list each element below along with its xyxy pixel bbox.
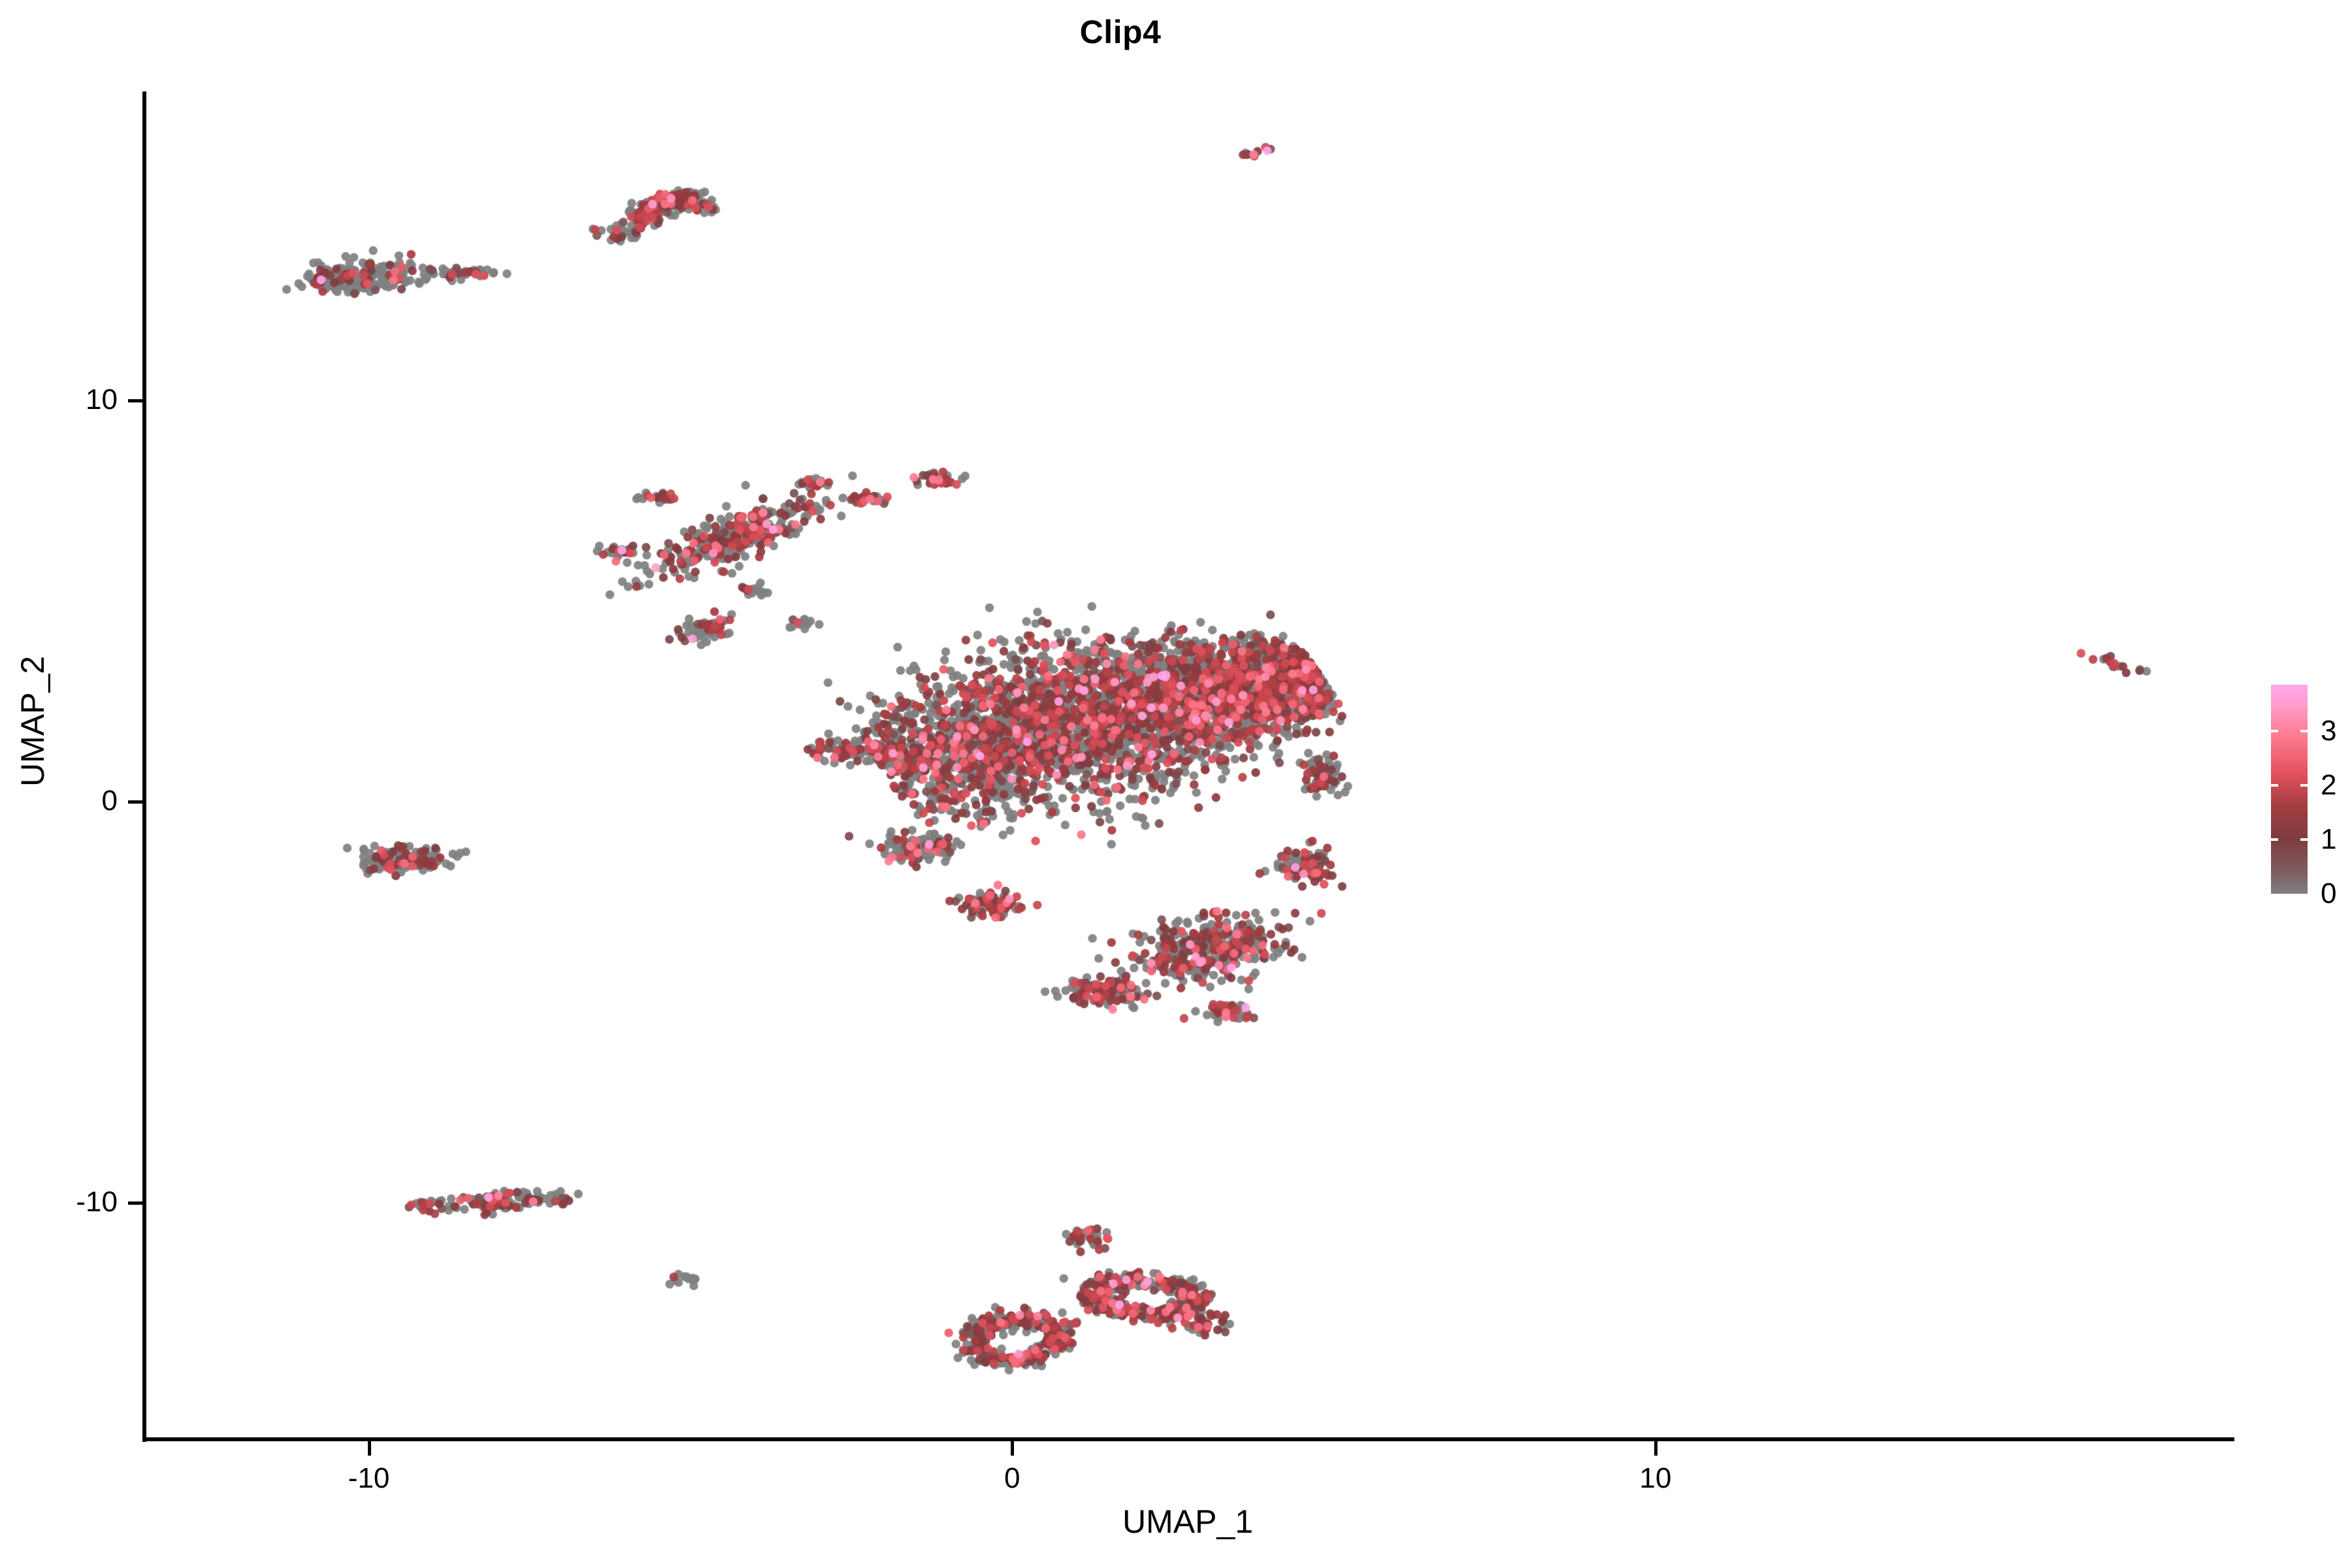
y-tick-label: -10 xyxy=(13,1186,118,1218)
x-axis-title: UMAP_1 xyxy=(534,1503,1841,1541)
x-tick-label: 10 xyxy=(1590,1462,1721,1495)
y-axis-line xyxy=(142,91,146,1442)
colorbar-legend: 0123 xyxy=(2271,685,2349,894)
colorbar-tick-mark xyxy=(2300,730,2308,732)
x-axis-line xyxy=(142,1437,2234,1441)
y-tick-label: 10 xyxy=(13,384,118,416)
x-tick-label: 0 xyxy=(947,1462,1077,1495)
colorbar-tick-label: 1 xyxy=(2321,823,2336,856)
x-tick-mark xyxy=(1654,1441,1658,1456)
x-tick-mark xyxy=(368,1441,371,1456)
colorbar-tick-label: 2 xyxy=(2321,769,2336,802)
x-tick-mark xyxy=(1011,1441,1014,1456)
page-title: Clip4 xyxy=(0,13,2241,51)
colorbar-tick-label: 0 xyxy=(2321,877,2336,910)
chart-root: Clip4 -10010-10010 UMAP_2 UMAP_1 0123 xyxy=(0,0,2352,1568)
colorbar-tick-mark xyxy=(2271,784,2278,787)
colorbar-tick-label: 3 xyxy=(2321,715,2336,747)
colorbar-tick-mark xyxy=(2300,784,2308,787)
y-tick-mark xyxy=(128,1201,142,1205)
y-tick-mark xyxy=(128,800,142,804)
plot-panel xyxy=(144,91,2234,1439)
colorbar-gradient xyxy=(2271,685,2308,894)
colorbar-tick-mark xyxy=(2271,730,2278,732)
scatter-canvas xyxy=(144,91,2234,1439)
y-axis-title: UMAP_2 xyxy=(14,571,52,872)
colorbar-tick-mark xyxy=(2300,838,2308,841)
colorbar-tick-mark xyxy=(2271,838,2278,841)
y-tick-mark xyxy=(128,399,142,402)
x-tick-label: -10 xyxy=(304,1462,434,1495)
